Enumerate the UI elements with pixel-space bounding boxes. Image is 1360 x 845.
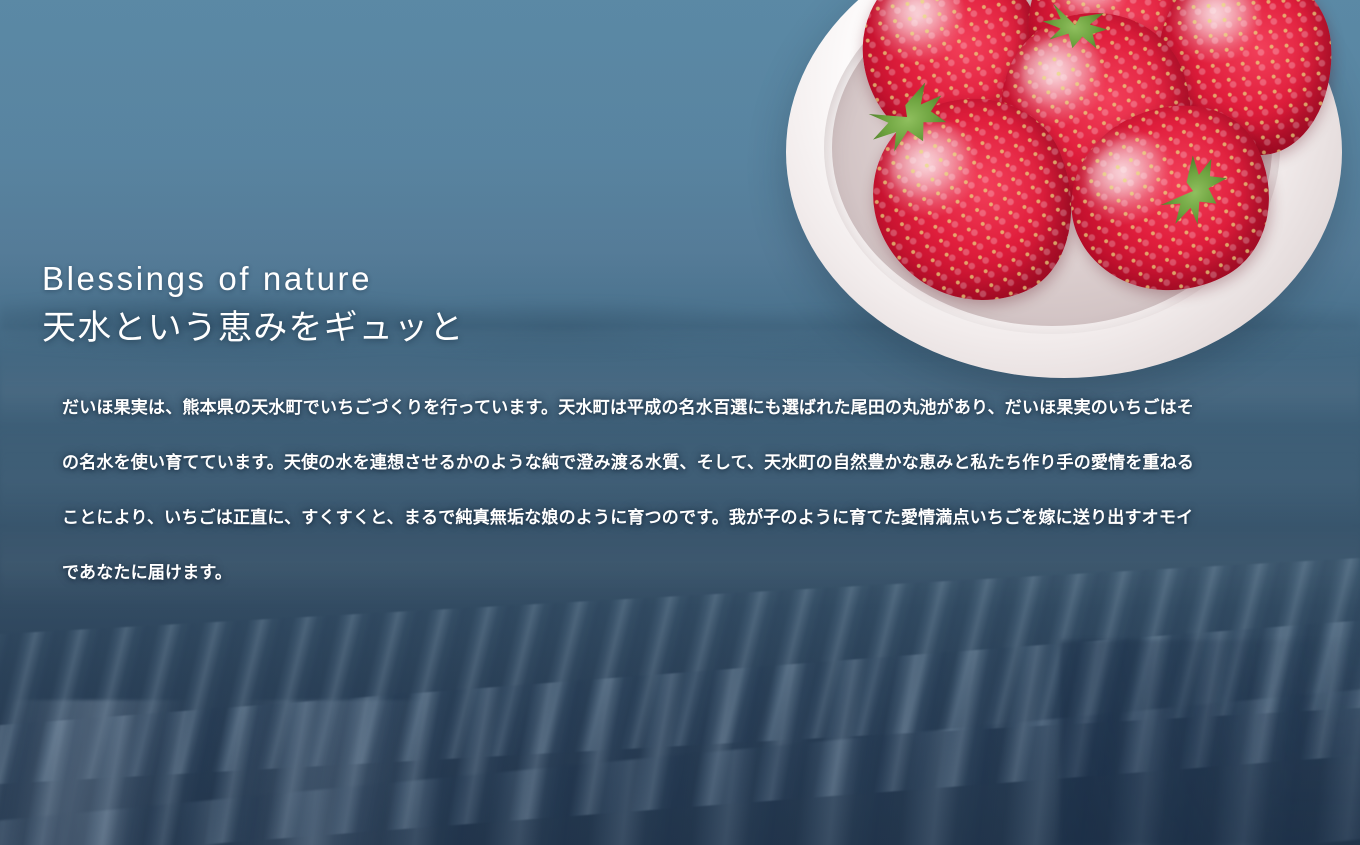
hero-body-copy: だいほ果実は、熊本県の天水町でいちごづくりを行っています。天水町は平成の名水百選… bbox=[62, 380, 1202, 600]
hero-headline: 天水という恵みをギュッと bbox=[42, 306, 1222, 352]
hero-banner: Blessings of nature 天水という恵みをギュッと だいほ果実は、… bbox=[0, 0, 1360, 845]
hero-eyebrow: Blessings of nature bbox=[42, 258, 1222, 300]
hero-text-block: Blessings of nature 天水という恵みをギュッと だいほ果実は、… bbox=[42, 258, 1222, 600]
